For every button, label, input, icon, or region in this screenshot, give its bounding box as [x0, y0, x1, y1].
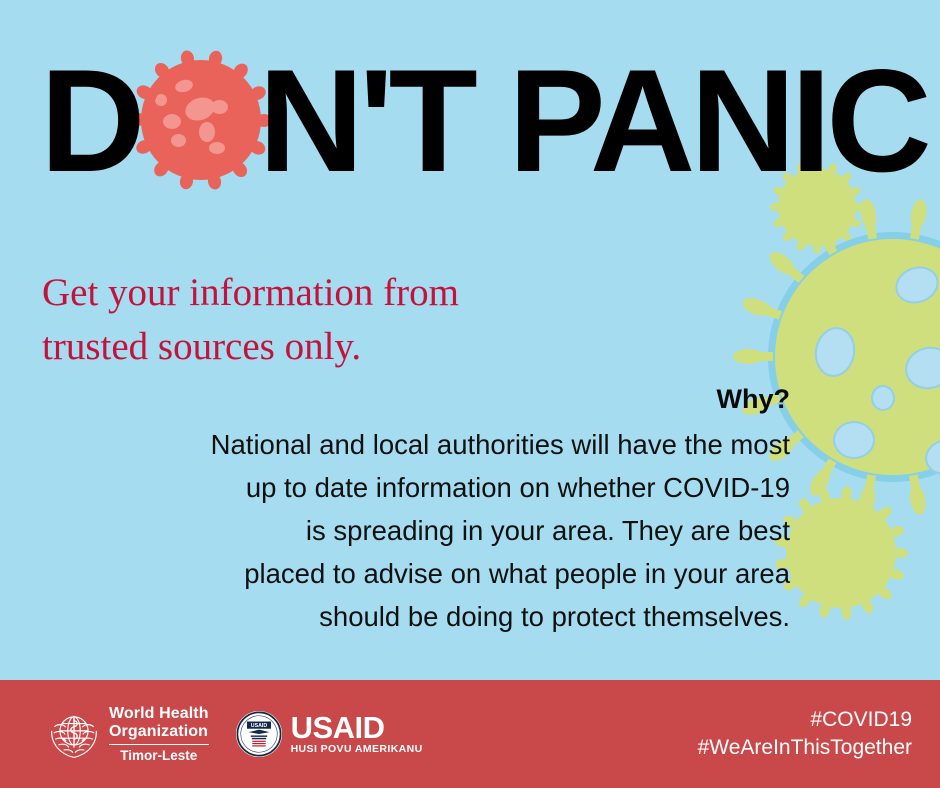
usaid-wordmark: USAID HUSI POVU AMERIKANU	[291, 713, 423, 754]
who-line-1: World Health	[109, 705, 209, 723]
poster-canvas: DN'T PANIC! Get your information from tr…	[0, 0, 940, 788]
hashtag-wearainthistogether: #WeAreInThisTogether	[698, 734, 912, 762]
body-line: placed to advise on what people in your …	[60, 553, 790, 596]
usaid-seal-icon: USAID	[235, 710, 283, 758]
hashtag-block: #COVID19 #WeAreInThisTogether	[698, 706, 912, 763]
who-wordmark: World Health Organization Timor-Leste	[109, 705, 209, 763]
virus-spot	[922, 435, 940, 478]
virus-decoration-large	[768, 232, 940, 482]
hashtag-covid19: #COVID19	[698, 706, 912, 734]
body-line: should be doing to protect themselves.	[60, 596, 790, 639]
virus-spot	[890, 261, 940, 310]
usaid-tagline: HUSI POVU AMERIKANU	[291, 743, 423, 755]
body-paragraph: National and local authorities will have…	[60, 424, 790, 638]
body-line: National and local authorities will have…	[60, 424, 790, 467]
virus-spot	[833, 421, 875, 459]
usaid-logo: USAID USAID HUSI POVU AMERIKANU	[235, 710, 423, 758]
who-emblem-icon	[48, 708, 100, 760]
subheading-line-1: Get your information from	[42, 266, 459, 320]
footer-bar: World Health Organization Timor-Leste US…	[0, 680, 940, 788]
who-line-2: Organization	[109, 723, 209, 741]
svg-text:USAID: USAID	[250, 723, 267, 729]
headline-letter-d: D	[40, 39, 140, 202]
who-logo: World Health Organization Timor-Leste	[48, 705, 209, 763]
page-title: DN'T PANIC!	[40, 48, 940, 194]
body-line: is spreading in your area. They are best	[60, 510, 790, 553]
subheading-line-2: trusted sources only.	[42, 320, 459, 374]
virus-spot	[871, 385, 895, 411]
body-line: up to date information on whether COVID-…	[60, 467, 790, 510]
virus-spot	[811, 324, 859, 380]
why-label: Why?	[717, 384, 791, 415]
headline-rest: N'T PANIC!	[258, 39, 940, 202]
who-country-label: Timor-Leste	[109, 748, 209, 763]
virus-decoration-small-middle	[786, 498, 896, 608]
usaid-word: USAID	[291, 713, 423, 742]
subheading: Get your information from trusted source…	[42, 266, 459, 374]
virus-spot	[900, 342, 940, 395]
who-divider	[109, 744, 209, 746]
